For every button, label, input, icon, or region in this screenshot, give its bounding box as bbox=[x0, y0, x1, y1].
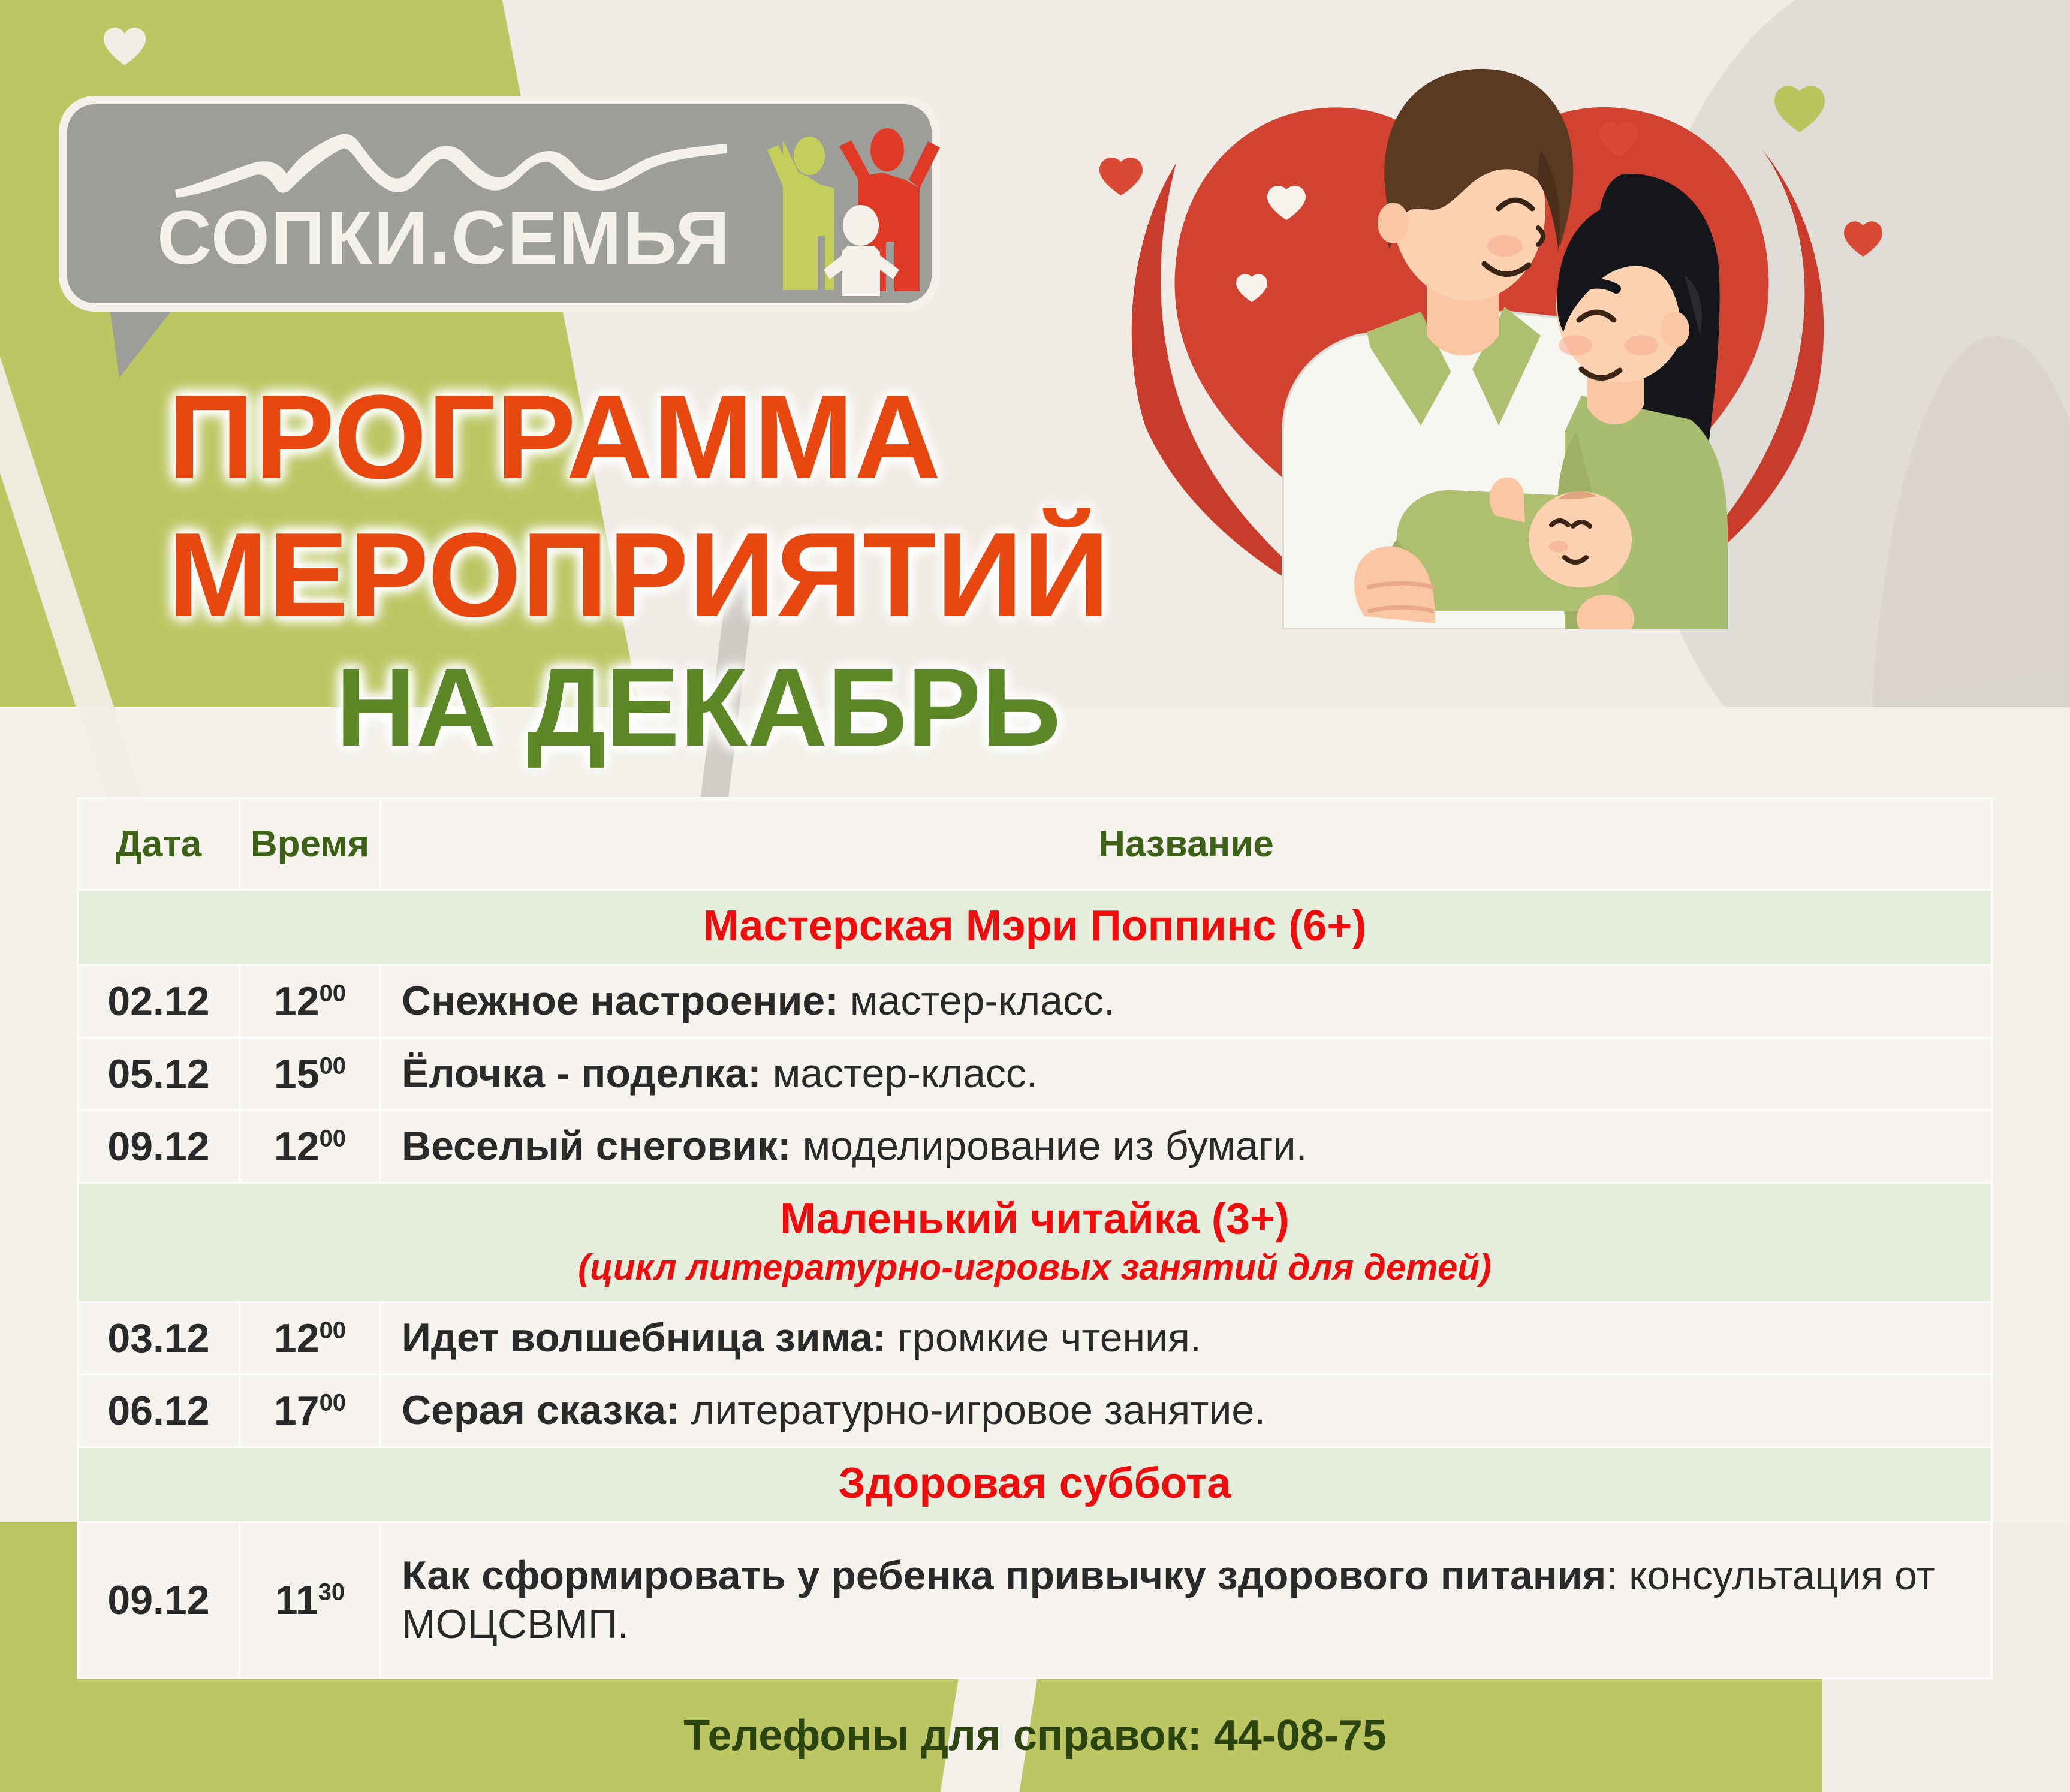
brand-logo: СОПКИ.СЕМЬЯ bbox=[59, 96, 940, 312]
event-time: 1130 bbox=[240, 1522, 381, 1679]
table-row: 02.121200Снежное настроение: мастер-клас… bbox=[78, 965, 1992, 1037]
contact-info: Телефоны для справок: 44-08-75 bbox=[0, 1711, 2070, 1760]
event-name: Снежное настроение: мастер-класс. bbox=[381, 965, 1992, 1037]
section-header-row: Мастерская Мэри Поппинс (6+) bbox=[78, 890, 1992, 966]
event-name: Ёлочка - поделка: мастер-класс. bbox=[381, 1037, 1992, 1110]
section-header-cell: Здоровая суббота bbox=[78, 1447, 1992, 1522]
table-body: Мастерская Мэри Поппинс (6+)02.121200Сне… bbox=[78, 890, 1992, 1679]
event-name-bold: Идет волшебница зима: bbox=[402, 1315, 886, 1360]
event-date: 03.12 bbox=[78, 1302, 240, 1374]
table-header-row: Дата Время Название bbox=[78, 798, 1992, 890]
event-name-bold: Веселый снеговик: bbox=[402, 1123, 791, 1169]
section-header-row: Здоровая суббота bbox=[78, 1447, 1992, 1522]
event-name-bold: Серая сказка: bbox=[402, 1387, 680, 1433]
heart-icon bbox=[101, 24, 149, 67]
family-illustration bbox=[1085, 12, 2020, 629]
event-date: 06.12 bbox=[78, 1374, 240, 1447]
table-row: 03.121200Идет волшебница зима: громкие ч… bbox=[78, 1302, 1992, 1374]
poster: СОПКИ.СЕМЬЯ bbox=[0, 0, 2070, 1792]
page-title-line3: НА ДЕКАБРЬ bbox=[336, 644, 1061, 771]
header-date: Дата bbox=[78, 798, 240, 890]
event-time: 1200 bbox=[240, 965, 381, 1037]
section-title: Здоровая суббота bbox=[85, 1459, 1985, 1509]
program-table-wrapper: Дата Время Название Мастерская Мэри Попп… bbox=[77, 797, 1993, 1679]
page-title-line1: ПРОГРАММА bbox=[168, 369, 941, 506]
event-name: Веселый снеговик: моделирование из бумаг… bbox=[381, 1110, 1992, 1182]
event-name: Идет волшебница зима: громкие чтения. bbox=[381, 1302, 1992, 1374]
event-date: 05.12 bbox=[78, 1037, 240, 1110]
section-title: Маленький читайка (3+) bbox=[85, 1194, 1985, 1244]
event-time: 1500 bbox=[240, 1037, 381, 1110]
family-figures-icon bbox=[763, 122, 948, 302]
table-row: 09.121130Как сформировать у ребенка прив… bbox=[78, 1522, 1992, 1679]
section-header-row: Маленький читайка (3+)(цикл литературно-… bbox=[78, 1182, 1992, 1302]
header-name: Название bbox=[381, 798, 1992, 890]
event-date: 09.12 bbox=[78, 1522, 240, 1679]
event-time: 1200 bbox=[240, 1302, 381, 1374]
program-table: Дата Время Название Мастерская Мэри Попп… bbox=[77, 797, 1993, 1679]
section-title: Мастерская Мэри Поппинс (6+) bbox=[85, 901, 1985, 951]
header-time: Время bbox=[240, 798, 381, 890]
table-row: 06.121700Серая сказка: литературно-игров… bbox=[78, 1374, 1992, 1447]
section-header-cell: Маленький читайка (3+)(цикл литературно-… bbox=[78, 1182, 1992, 1302]
event-name-bold: Как сформировать у ребенка привычку здор… bbox=[402, 1553, 1606, 1598]
event-date: 09.12 bbox=[78, 1110, 240, 1182]
section-header-cell: Мастерская Мэри Поппинс (6+) bbox=[78, 890, 1992, 966]
event-date: 02.12 bbox=[78, 965, 240, 1037]
event-name-bold: Ёлочка - поделка: bbox=[402, 1051, 761, 1096]
event-name: Серая сказка: литературно-игровое заняти… bbox=[381, 1374, 1992, 1447]
brand-logo-text: СОПКИ.СЕМЬЯ bbox=[157, 194, 731, 281]
table-row: 09.121200Веселый снеговик: моделирование… bbox=[78, 1110, 1992, 1182]
event-time: 1700 bbox=[240, 1374, 381, 1447]
event-name-bold: Снежное настроение: bbox=[402, 978, 839, 1024]
mountain-icon bbox=[169, 127, 733, 199]
event-name: Как сформировать у ребенка привычку здор… bbox=[381, 1522, 1992, 1679]
page-title-line2: МЕРОПРИЯТИЙ bbox=[168, 506, 1110, 644]
table-row: 05.121500Ёлочка - поделка: мастер-класс. bbox=[78, 1037, 1992, 1110]
event-time: 1200 bbox=[240, 1110, 381, 1182]
section-subtitle: (цикл литературно-игровых занятий для де… bbox=[85, 1247, 1985, 1288]
